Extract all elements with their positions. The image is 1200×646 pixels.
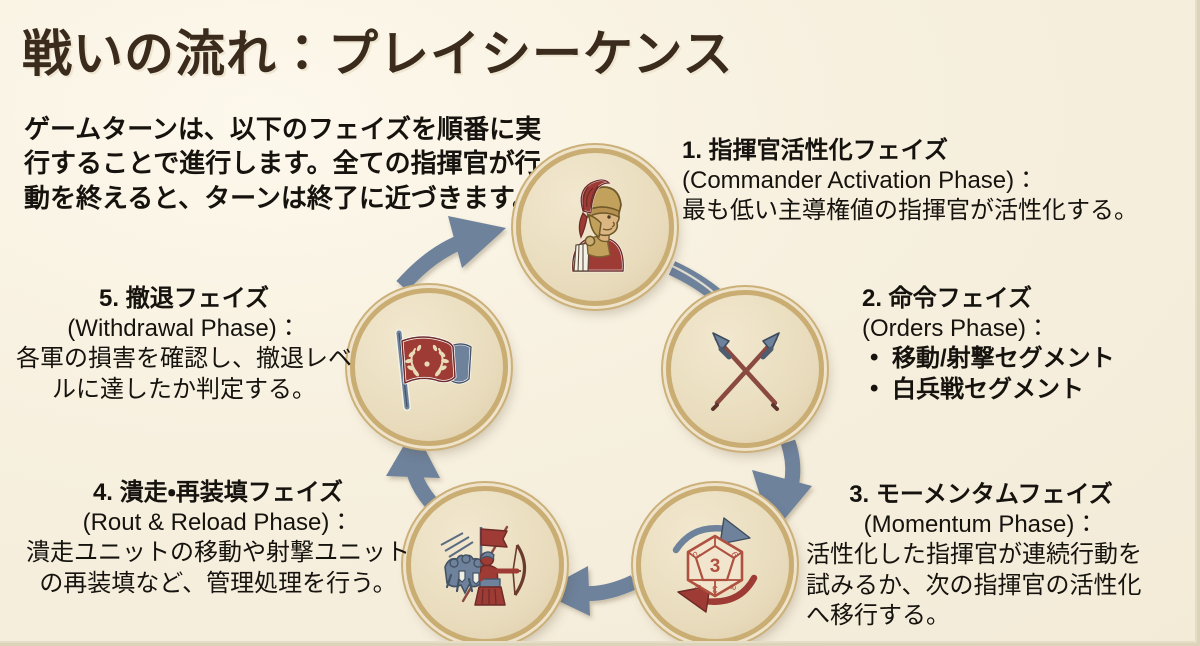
crossed-spears-icon — [693, 317, 797, 421]
phase-1-title-en: (Commander Activation Phase)： — [682, 166, 1138, 196]
phase-block-1: 1. 指揮官活性化フェイズ (Commander Activation Phas… — [682, 136, 1138, 227]
phase-4-desc: 潰走ユニットの移動や射撃ユニットの再装填など、管理処理を行う。 — [18, 538, 418, 598]
d20-die: 3 2 6 9 3 3 — [688, 536, 742, 596]
play-sequence-slide: 戦いの流れ：プレイシーケンス ゲームターンは、以下のフェイズを順番に実行すること… — [0, 0, 1200, 646]
phase-5-title-ja: 5. 撤退フェイズ — [14, 284, 354, 314]
phase-3-desc: 活性化した指揮官が連続行動を試みるか、次の指揮官の活性化へ移行する。 — [806, 540, 1156, 631]
intro-paragraph: ゲームターンは、以下のフェイズを順番に実行することで進行します。全ての指揮官が行… — [24, 112, 564, 215]
page-title: 戦いの流れ：プレイシーケンス — [22, 14, 734, 86]
arrow-5-to-1 — [402, 216, 506, 286]
medallion-momentum[interactable]: 3 2 6 9 3 3 — [636, 486, 794, 644]
phase-block-5: 5. 撤退フェイズ (Withdrawal Phase)： 各軍の損害を確認し、… — [14, 284, 354, 405]
phase-2-title-en: (Orders Phase)： — [862, 314, 1115, 344]
phase-block-3: 3. モーメンタムフェイズ (Momentum Phase)： 活性化した指揮官… — [806, 480, 1156, 631]
laurel-banner-icon — [375, 313, 483, 421]
archer-figure — [475, 545, 525, 605]
roman-commander-icon — [543, 175, 647, 279]
phase-3-title-ja: 3. モーメンタムフェイズ — [806, 480, 1156, 510]
d20-cycle-icon: 3 2 6 9 3 3 — [660, 510, 770, 620]
phase-2-title-ja: 2. 命令フェイズ — [862, 284, 1115, 314]
phase-4-title-en: (Rout & Reload Phase)： — [18, 508, 418, 538]
svg-text:3: 3 — [712, 583, 718, 594]
phase-3-title-en: (Momentum Phase)： — [806, 510, 1156, 540]
phase-block-4: 4. 潰走・再装填フェイズ (Rout & Reload Phase)： 潰走ユ… — [18, 478, 418, 599]
phase-2-bullet-2: 白兵戦セグメント — [862, 375, 1115, 405]
medallion-withdrawal[interactable] — [350, 288, 508, 446]
phase-2-bullets: 移動/射撃セグメント 白兵戦セグメント — [862, 344, 1115, 404]
medallion-orders[interactable] — [666, 290, 824, 448]
d20-value: 3 — [710, 556, 721, 577]
rout-and-archer-icon — [429, 509, 541, 621]
phase-1-desc: 最も低い主導権値の指揮官が活性化する。 — [682, 196, 1138, 226]
medallion-rout-reload[interactable] — [406, 486, 564, 644]
phase-2-bullet-1: 移動/射撃セグメント — [862, 344, 1115, 374]
phase-5-title-en: (Withdrawal Phase)： — [14, 314, 354, 344]
phase-block-2: 2. 命令フェイズ (Orders Phase)： 移動/射撃セグメント 白兵戦… — [862, 284, 1115, 405]
phase-1-title-ja: 1. 指揮官活性化フェイズ — [682, 136, 1138, 166]
medallion-commander[interactable] — [516, 148, 674, 306]
phase-5-desc: 各軍の損害を確認し、撤退レベルに達したか判定する。 — [14, 344, 354, 404]
phase-4-title-ja: 4. 潰走・再装填フェイズ — [18, 478, 418, 508]
